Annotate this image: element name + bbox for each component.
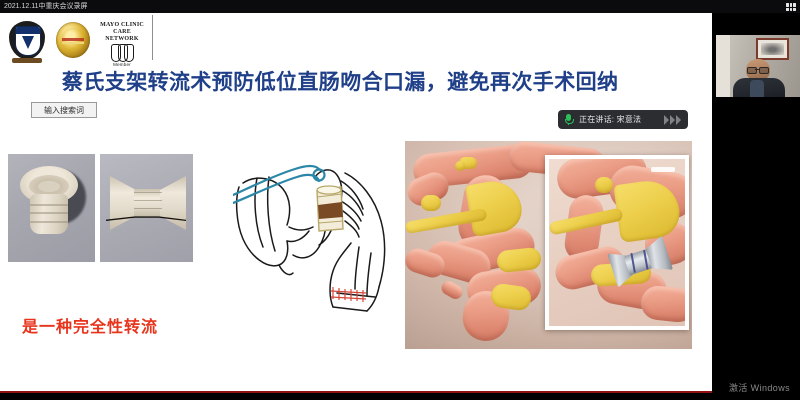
medical-illustration: [405, 141, 692, 349]
recording-title-bar: 2021.12.11中重庆会议录屏: [0, 0, 800, 13]
mayo-line-1: MAYO CLINIC: [96, 22, 148, 29]
microphone-icon: [565, 114, 572, 125]
mayo-line-2: CARE NETWORK: [96, 29, 148, 43]
slide-title: 蔡氏支架转流术预防低位直肠吻合口漏，避免再次手术回纳: [62, 67, 672, 97]
webcam-panel[interactable]: [716, 13, 800, 400]
header-divider: [152, 15, 153, 60]
mayo-shields-icon: [111, 44, 133, 62]
gold-medal-logo: [52, 19, 94, 63]
participant-video[interactable]: [716, 35, 800, 97]
logo-row: MAYO CLINIC CARE NETWORK Member: [4, 19, 144, 63]
active-speaker-banner: 正在讲话: 宋意法: [558, 110, 688, 129]
eyeglasses-icon: [747, 67, 769, 72]
active-speaker-label: 正在讲话: 宋意法: [579, 114, 641, 125]
grid-view-icon[interactable]: [786, 3, 796, 11]
anatomy-line-drawing: [233, 147, 403, 327]
stent-photo-side-view: [100, 154, 193, 262]
presentation-slide: MAYO CLINIC CARE NETWORK Member 蔡氏支架转流术预…: [0, 13, 712, 391]
meeting-screen: 2021.12.11中重庆会议录屏: [0, 0, 800, 400]
recording-title: 2021.12.11中重庆会议录屏: [4, 1, 88, 12]
mayo-clinic-logo: MAYO CLINIC CARE NETWORK Member: [96, 19, 148, 63]
windows-activation-watermark: 激活 Windows: [729, 381, 790, 394]
stent-photo-top-view: [8, 154, 95, 262]
university-shield-logo: [6, 19, 48, 63]
slide-bottom-rule: [0, 391, 712, 393]
search-input[interactable]: 输入搜索词: [31, 102, 97, 118]
wall-picture-frame: [756, 38, 789, 60]
audio-wave-icon: [664, 115, 681, 125]
medical-illustration-inset: [545, 155, 689, 330]
red-caption: 是一种完全性转流: [22, 313, 158, 337]
